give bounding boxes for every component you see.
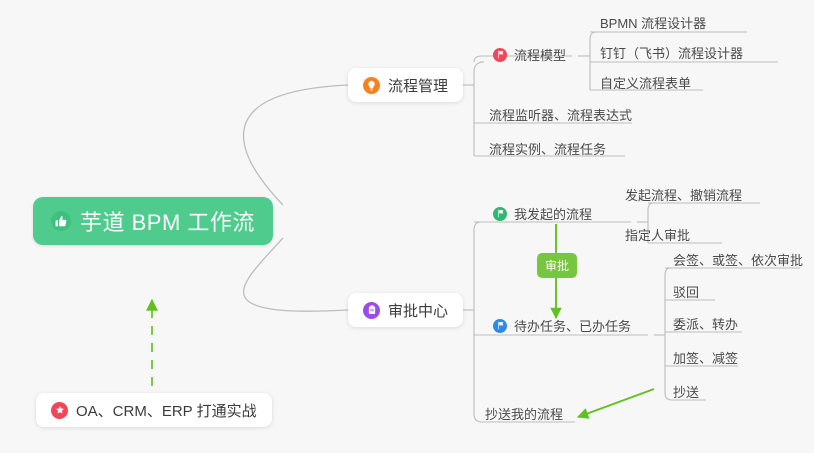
leaf-delegate-transfer[interactable]: 委派、转办 [673,314,738,336]
mindmap-canvas: 芋道 BPM 工作流 流程管理 流程模型 BPMN 流程设计器 钉钉（飞书）流程… [0,0,814,453]
arrow-cc-to-ccmine [578,389,654,417]
node-label-process-model: 流程模型 [514,45,566,64]
leaf-add-remove-sign[interactable]: 加签、减签 [673,348,738,370]
thumbs-up-icon [51,211,71,231]
link-model-bracket [590,32,596,90]
leaf-custom-form[interactable]: 自定义流程表单 [600,73,691,95]
leaf-bpmn-designer[interactable]: BPMN 流程设计器 [600,13,706,35]
leaf-reject[interactable]: 驳回 [673,282,699,304]
node-label-my-started-process: 我发起的流程 [514,204,592,223]
leaf-process-listener[interactable]: 流程监听器、流程表达式 [489,105,632,127]
annotation-badge-approval: 审批 [537,253,577,278]
link-approval-bracket [474,222,482,422]
branch-node-process-management[interactable]: 流程管理 [348,68,463,102]
leaf-dingtalk-designer[interactable]: 钉钉（飞书）流程设计器 [600,43,743,65]
flag-icon [493,48,507,62]
flag-icon [493,319,507,333]
link-root-to-approval [244,238,348,311]
branch-label-process-management: 流程管理 [388,75,448,96]
node-my-started-process[interactable]: 我发起的流程 [493,204,592,226]
leaf-cc-my-process[interactable]: 抄送我的流程 [485,404,563,426]
node-process-model[interactable]: 流程模型 [493,45,566,67]
branch-node-approval-center[interactable]: 审批中心 [348,293,463,327]
note-node-oa-crm-erp[interactable]: OA、CRM、ERP 打通实战 [36,393,272,427]
link-process-bracket [474,62,484,156]
root-node[interactable]: 芋道 BPM 工作流 [33,197,273,245]
note-label-oa-crm-erp: OA、CRM、ERP 打通实战 [76,400,257,421]
lightbulb-icon [363,77,380,94]
link-root-to-process [244,85,348,205]
leaf-countersign[interactable]: 会签、或签、依次审批 [673,250,803,272]
node-label-todo-done-tasks: 待办任务、已办任务 [514,316,631,335]
leaf-start-cancel-process[interactable]: 发起流程、撤销流程 [625,185,742,207]
branch-label-approval-center: 审批中心 [388,300,448,321]
leaf-assignee-approval[interactable]: 指定人审批 [625,225,690,247]
leaf-process-instance[interactable]: 流程实例、流程任务 [489,139,606,161]
link-todo-bracket [665,268,672,400]
root-label: 芋道 BPM 工作流 [80,205,255,237]
flag-icon [493,207,507,221]
leaf-carbon-copy[interactable]: 抄送 [673,382,699,404]
clipboard-icon [363,302,380,319]
star-icon [51,402,68,419]
node-todo-done-tasks[interactable]: 待办任务、已办任务 [493,316,631,338]
